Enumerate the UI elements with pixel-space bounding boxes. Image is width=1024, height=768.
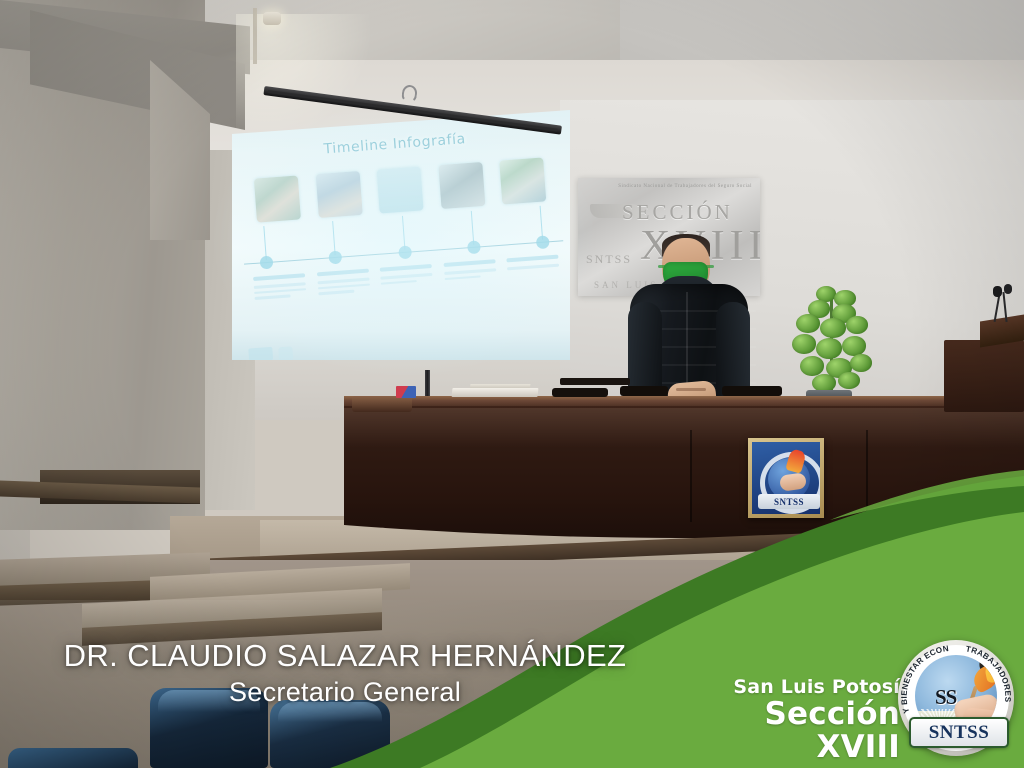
- timeline-node: [467, 240, 481, 254]
- potted-plant: [786, 284, 882, 396]
- audience-chair: [150, 688, 268, 768]
- desk-sntss-plaque: SNTSS: [748, 438, 824, 518]
- plant-leaf: [800, 356, 824, 376]
- timeline-node: [536, 235, 550, 249]
- timeline-caption: [380, 264, 434, 293]
- plaque-top-line: Sindicato Nacional de Trabajadores del S…: [618, 184, 752, 189]
- desk-papers: [452, 388, 539, 397]
- timeline-caption: [443, 259, 497, 288]
- plant-leaf: [846, 316, 868, 334]
- plant-leaf: [820, 318, 846, 338]
- plant-leaf: [842, 336, 866, 356]
- spotlight-arm: [253, 8, 257, 64]
- slide-title: Timeline Infografía: [226, 124, 564, 165]
- timeline-caption: [506, 255, 560, 284]
- slide-footer-logo-icon: [278, 346, 293, 361]
- emblem-banner: SNTSS: [909, 717, 1009, 748]
- plant-leaf: [792, 334, 816, 354]
- timeline-thumbnail: [377, 166, 424, 213]
- plant-leaf: [796, 314, 820, 333]
- counter-highlight: [344, 408, 1024, 448]
- screen-hook-icon: [401, 84, 418, 103]
- timeline-node: [398, 245, 412, 259]
- timeline-node: [260, 256, 274, 270]
- counter-panel-seam: [690, 430, 692, 522]
- projection-screen: Timeline Infografía: [232, 86, 572, 386]
- projection-surface: Timeline Infografía: [232, 110, 570, 360]
- emblem-acronym: SNTSS: [929, 722, 990, 744]
- timeline-thumbnail: [315, 171, 362, 218]
- emblem-torch-flame-icon: [971, 655, 997, 697]
- audience-chair: [270, 700, 390, 768]
- microphone-icon: [1004, 284, 1012, 294]
- timeline-node: [329, 250, 343, 264]
- counter-panel-seam: [866, 430, 868, 522]
- slide-footer-badge: [248, 347, 273, 362]
- brand-location: San Luis Potosí: [700, 678, 900, 697]
- slide-content: Timeline Infografía: [223, 94, 578, 368]
- screenshot-canvas: Sindicato Nacional de Trabajadores del S…: [0, 0, 1024, 768]
- desk-item-dark: [722, 386, 782, 396]
- microphone-icon: [993, 286, 1002, 297]
- brand-lockup: San Luis Potosí Sección XVIII: [700, 678, 900, 763]
- timeline-thumbnail: [254, 176, 301, 223]
- plant-leaf: [850, 354, 872, 372]
- plaque-banner: SNTSS: [758, 494, 820, 509]
- plant-leaf: [838, 372, 860, 389]
- desk-item-box: [396, 386, 416, 398]
- lectern: [944, 340, 1024, 412]
- desk-item-dark: [560, 378, 630, 385]
- brand-section: Sección XVIII: [700, 698, 900, 763]
- plant-leaf: [816, 338, 842, 359]
- desk-item-dark: [552, 388, 608, 397]
- timeline-thumbnail: [499, 157, 546, 204]
- timeline-caption: [253, 273, 307, 302]
- event-photo: Sindicato Nacional de Trabajadores del S…: [0, 0, 1024, 768]
- counter-left-end: [352, 396, 412, 412]
- audience-chair: [8, 748, 138, 768]
- sntss-emblem: Y BIENESTAR ECONÓMICO DE LOS TRABAJADORE…: [898, 640, 1014, 756]
- desk-item-dark: [620, 386, 668, 396]
- speaker-hand-detail: [676, 388, 706, 391]
- spotlight-icon: [263, 12, 281, 25]
- timeline-caption: [316, 269, 370, 298]
- timeline-thumbnail: [438, 162, 485, 209]
- plaque-banner-text: SNTSS: [774, 497, 804, 507]
- emblem-initials: SS: [935, 685, 956, 710]
